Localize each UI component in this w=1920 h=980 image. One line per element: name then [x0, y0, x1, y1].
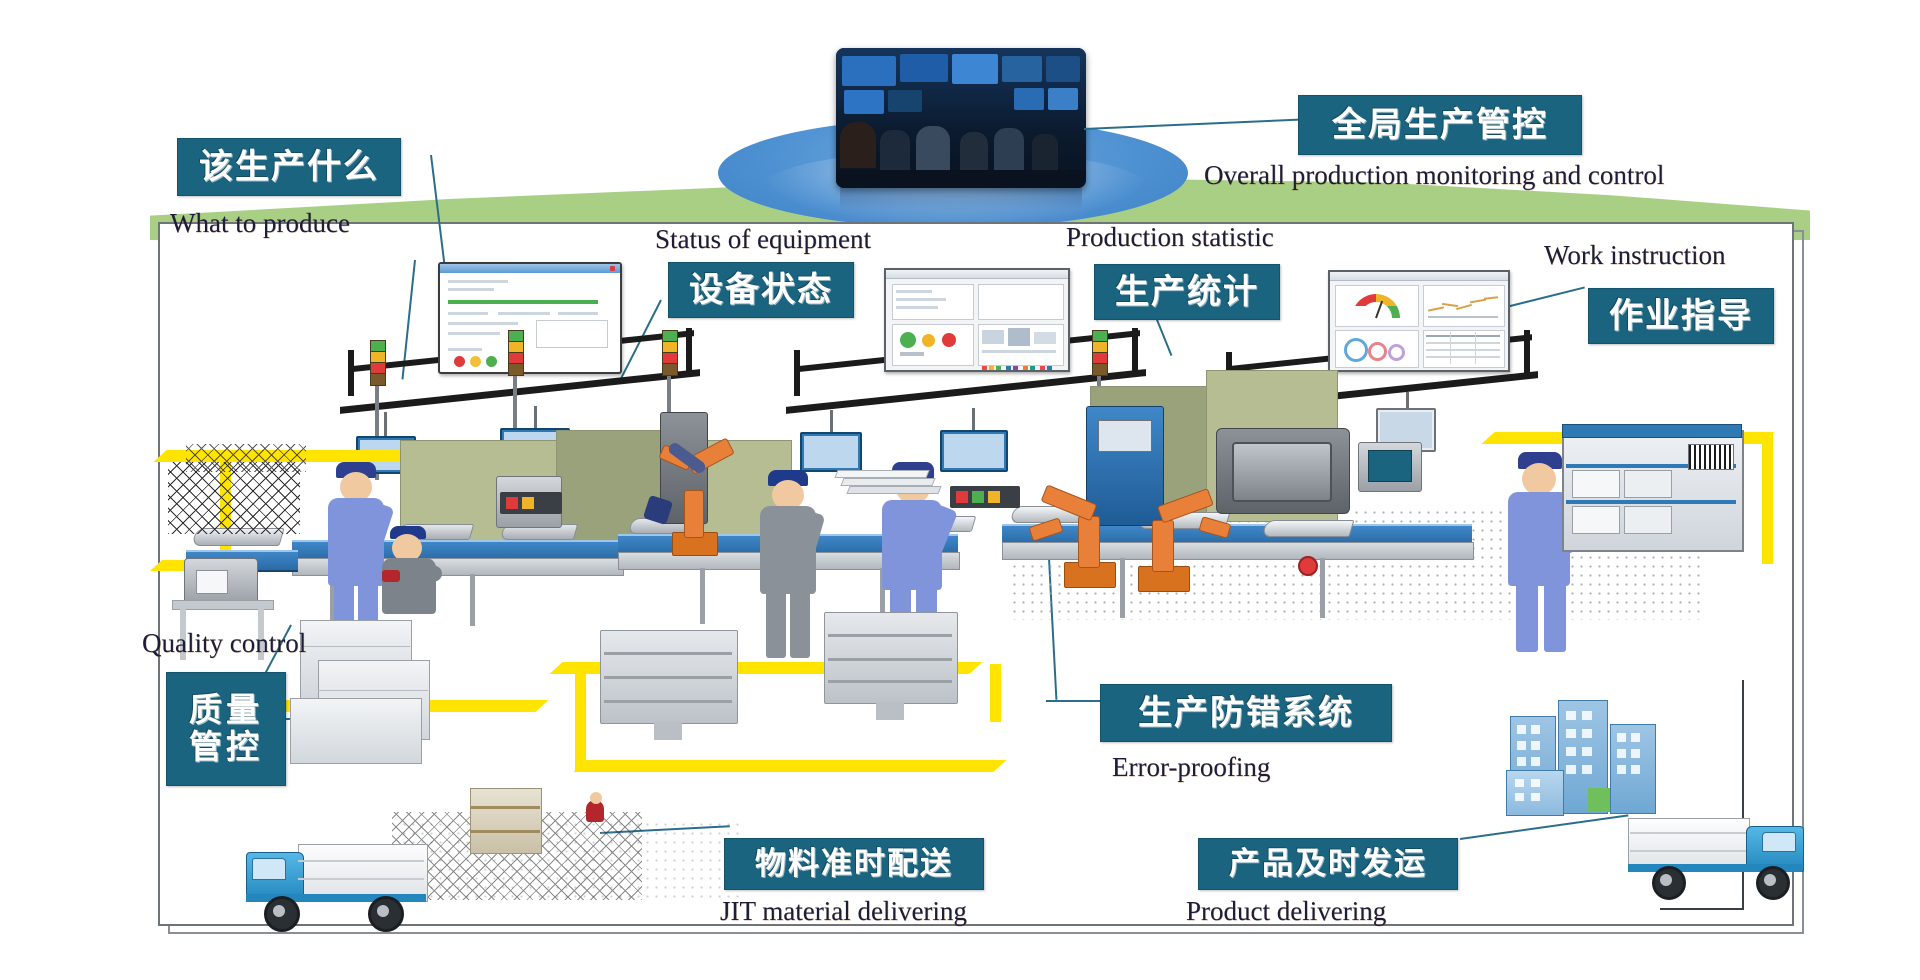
machine-cabinet-panel — [1098, 420, 1152, 452]
badge-jit-material[interactable]: 物料准时配送 — [724, 838, 984, 890]
panel-stack-1 — [834, 470, 929, 478]
control-box-2-led-red — [956, 491, 968, 503]
qc-machine-window — [196, 570, 228, 594]
warehouse-rack-barcode — [1688, 444, 1734, 470]
building-low-1 — [1506, 770, 1564, 816]
building-green-patch — [1588, 788, 1610, 812]
material-cart-1-shelf-1 — [604, 652, 732, 655]
badge-product-delivering[interactable]: 产品及时发运 — [1198, 838, 1458, 890]
badge-quality-control-line1: 质量 — [189, 692, 263, 729]
badge-equipment-status[interactable]: 设备状态 — [668, 262, 854, 318]
caption-overall-monitoring: Overall production monitoring and contro… — [1204, 160, 1664, 191]
worker-assembly-1 — [752, 470, 826, 660]
erp-order-screen — [438, 262, 622, 374]
caption-production-statistic: Production statistic — [1066, 222, 1274, 253]
control-box-1-led-amber — [522, 497, 534, 509]
floor-marking-mid-c — [575, 664, 586, 772]
badge-overall-monitoring[interactable]: 全局生产管控 — [1298, 95, 1582, 155]
caption-what-to-produce: What to produce — [170, 208, 350, 239]
conveyor-leg-6 — [1320, 558, 1325, 618]
panel-stack-2 — [840, 478, 935, 486]
mesh-rack-left-2 — [186, 444, 306, 472]
robot-emergency-stop — [1298, 556, 1318, 576]
material-cart-1-shelf-2 — [604, 676, 732, 679]
badge-quality-control-line2: 管控 — [189, 729, 263, 766]
jit-crate-band-1 — [470, 806, 540, 809]
jit-crate — [470, 788, 542, 854]
conveyor-leg-2 — [470, 574, 475, 626]
pallet-line-1 — [300, 646, 410, 647]
machine-hmi-screen — [1368, 450, 1412, 482]
control-box-2-led-amber — [988, 491, 1000, 503]
jit-delivery-truck — [238, 838, 434, 938]
jit-crate-band-2 — [470, 830, 540, 833]
machine-oven-door — [1232, 442, 1332, 502]
robot-arm-3 — [1120, 476, 1210, 596]
control-room-photo-reflection — [840, 188, 1082, 222]
badge-quality-control[interactable]: 质量 管控 — [166, 672, 286, 786]
material-cart-2-shelf-3 — [828, 680, 952, 683]
smart-factory-diagram: 该生产什么 What to produce 全局生产管控 Overall pro… — [0, 0, 1920, 980]
floor-marking-mid-b — [573, 760, 1006, 772]
material-cart-1-shelf-3 — [604, 700, 732, 703]
caption-jit-material: JIT material delivering — [720, 896, 967, 927]
caption-quality-control: Quality control — [142, 628, 306, 659]
warehouse-rack-box-3 — [1572, 506, 1620, 534]
badge-production-statistic[interactable]: 生产统计 — [1094, 264, 1280, 320]
jit-person-head — [590, 792, 602, 804]
badge-error-proofing[interactable]: 生产防错系统 — [1100, 684, 1392, 742]
control-box-1-led-red — [506, 497, 518, 509]
material-cart-1-leg — [654, 722, 682, 740]
product-delivery-truck — [1628, 812, 1818, 908]
warehouse-rack-box-1 — [1572, 470, 1620, 498]
pallet-stack-left-3 — [290, 698, 422, 764]
badge-work-instruction[interactable]: 作业指导 — [1588, 288, 1774, 344]
caption-equipment-status: Status of equipment — [655, 224, 871, 255]
mesh-rack-left — [168, 462, 300, 534]
badge-what-to-produce[interactable]: 该生产什么 — [177, 138, 401, 196]
caption-product-delivering: Product delivering — [1186, 896, 1386, 927]
warehouse-rack-box-2 — [1624, 470, 1672, 498]
caption-error-proofing: Error-proofing — [1112, 752, 1270, 783]
warehouse-rack-box-4 — [1624, 506, 1672, 534]
control-room-photo — [836, 48, 1086, 188]
part-on-conveyor-7 — [1262, 520, 1355, 537]
leader-line-overall-monitoring — [1084, 118, 1302, 130]
material-cart-2-shelf-1 — [828, 634, 952, 637]
floor-marking-right-b — [1762, 434, 1773, 564]
pallet-line-2 — [318, 690, 428, 691]
production-statistic-dashboard — [1328, 270, 1510, 372]
leader-line-product-frame-b — [1660, 908, 1744, 910]
building-tall-3 — [1610, 724, 1656, 814]
control-box-2-led-green — [972, 491, 984, 503]
panel-stack-3 — [846, 486, 941, 494]
material-cart-2-shelf-2 — [828, 658, 952, 661]
material-cart-2-leg — [876, 702, 904, 720]
warehouse-rack-shelf-2 — [1566, 500, 1736, 504]
conveyor-leg-3 — [700, 568, 705, 624]
caption-work-instruction: Work instruction — [1544, 240, 1726, 271]
fixture-arm-left — [662, 446, 722, 536]
warehouse-rack-top — [1562, 424, 1742, 438]
floor-marking-mid-d — [990, 664, 1001, 722]
equipment-status-dashboard — [884, 268, 1070, 372]
